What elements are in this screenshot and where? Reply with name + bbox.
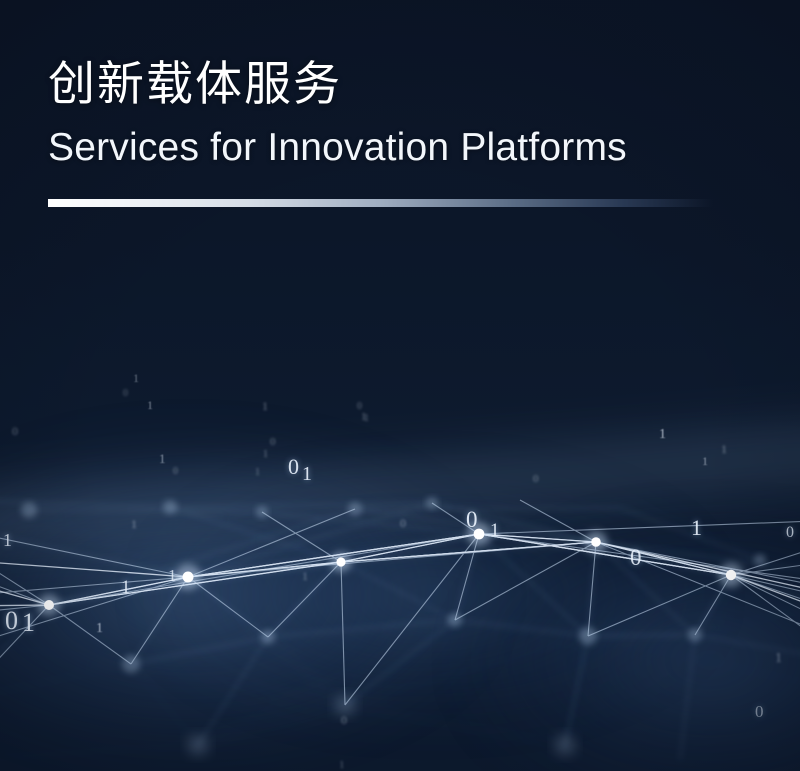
binary-digit: 1 xyxy=(691,517,702,539)
binary-digit: 0 xyxy=(173,467,178,477)
binary-digit: 0 xyxy=(270,437,276,448)
binary-digit: 1 xyxy=(721,443,727,455)
binary-digit: 1 xyxy=(255,468,260,478)
binary-digit: 1 xyxy=(775,652,782,666)
binary-digit: 0 xyxy=(5,608,18,634)
binary-digit: 1 xyxy=(168,567,177,584)
binary-digit: 0 xyxy=(466,508,478,531)
binary-digit: 1 xyxy=(364,414,369,424)
binary-digit: 1 xyxy=(22,610,35,636)
binary-digit: 0 xyxy=(341,714,347,726)
title-underline-divider xyxy=(48,199,713,207)
binary-digit: 1 xyxy=(263,450,268,460)
binary-digit: 1 xyxy=(262,400,268,412)
binary-digit: 1 xyxy=(3,531,12,549)
binary-digit: 1 xyxy=(133,372,139,384)
binary-digit: 0 xyxy=(400,517,406,529)
innovation-platform-banner: 0110101011101111101010101011110010110 创新… xyxy=(0,0,800,771)
binary-digit: 0 xyxy=(533,474,539,485)
binary-digit: 0 xyxy=(12,425,18,437)
binary-digit: 1 xyxy=(96,622,103,636)
binary-digit: 1 xyxy=(490,521,500,540)
binary-digit: 1 xyxy=(131,518,137,530)
binary-digit: 0 xyxy=(630,546,642,569)
binary-digit: 1 xyxy=(302,464,312,484)
binary-digit: 1 xyxy=(702,455,708,467)
mesh-layer-bright xyxy=(0,534,800,616)
binary-digit: 1 xyxy=(302,570,308,582)
mesh-layer-mid xyxy=(0,500,800,760)
binary-digit: 0 xyxy=(288,456,299,478)
mesh-layer-far xyxy=(0,500,800,760)
page-title-english: Services for Innovation Platforms xyxy=(48,127,748,170)
banner-title-block: 创新载体服务 Services for Innovation Platforms xyxy=(48,58,748,170)
binary-digit: 0 xyxy=(123,389,128,399)
page-title-chinese: 创新载体服务 xyxy=(48,58,748,111)
binary-digit: 1 xyxy=(147,399,153,411)
binary-digit: 1 xyxy=(659,428,666,442)
binary-digit: 1 xyxy=(121,578,131,597)
binary-digit: 1 xyxy=(159,452,166,465)
binary-digit: 0 xyxy=(786,525,794,541)
binary-digit: 1 xyxy=(339,760,345,771)
binary-digit: 0 xyxy=(755,703,764,720)
